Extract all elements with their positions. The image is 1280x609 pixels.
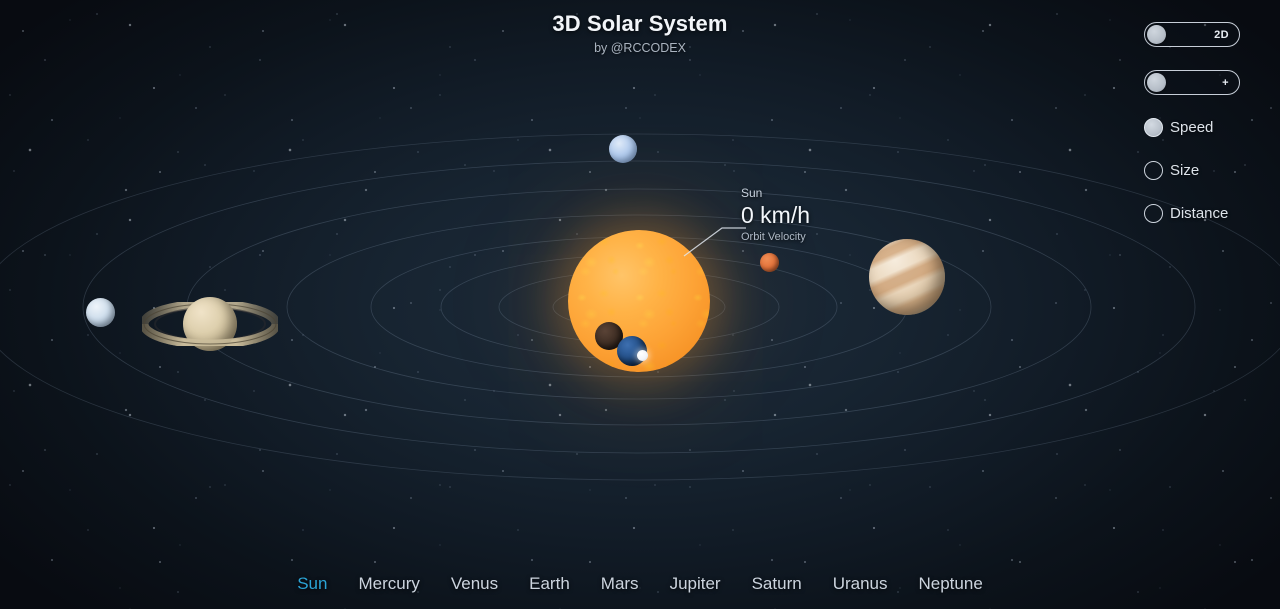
page-subtitle: by @RCCODEX xyxy=(0,40,1280,56)
planet-mars[interactable] xyxy=(760,253,779,272)
nav-item-uranus[interactable]: Uranus xyxy=(833,573,888,595)
option-distance[interactable]: Distance xyxy=(1144,204,1264,223)
nav-item-sun[interactable]: Sun xyxy=(297,573,327,595)
nav-item-saturn[interactable]: Saturn xyxy=(752,573,802,595)
nav-item-venus[interactable]: Venus xyxy=(451,573,498,595)
nav-item-mercury[interactable]: Mercury xyxy=(358,573,419,595)
planet-neptune[interactable] xyxy=(609,135,637,163)
planet-uranus[interactable] xyxy=(86,298,115,327)
zoom-toggle[interactable]: + xyxy=(1144,70,1240,95)
zoom-toggle-label: + xyxy=(1222,77,1239,89)
option-distance-label: Distance xyxy=(1170,205,1228,222)
option-speed[interactable]: Speed xyxy=(1144,118,1264,137)
nav-item-jupiter[interactable]: Jupiter xyxy=(670,573,721,595)
planet-saturn[interactable] xyxy=(183,297,237,351)
view-mode-toggle[interactable]: 2D xyxy=(1144,22,1240,47)
option-size[interactable]: Size xyxy=(1144,161,1264,180)
tooltip-unit-label: Orbit Velocity xyxy=(741,230,810,244)
moon[interactable] xyxy=(637,350,648,361)
nav-item-mars[interactable]: Mars xyxy=(601,573,639,595)
option-speed-label: Speed xyxy=(1170,119,1213,136)
planet-info-tooltip: Sun 0 km/h Orbit Velocity xyxy=(741,186,810,244)
radio-size-icon[interactable] xyxy=(1144,161,1163,180)
view-mode-toggle-label: 2D xyxy=(1214,29,1239,41)
view-mode-toggle-knob[interactable] xyxy=(1147,25,1166,44)
solar-system-canvas[interactable]: Sun 0 km/h Orbit Velocity 3D Solar Syste… xyxy=(0,0,1280,609)
radio-distance-icon[interactable] xyxy=(1144,204,1163,223)
tooltip-value: 0 km/h xyxy=(741,202,810,229)
radio-speed-icon[interactable] xyxy=(1144,118,1163,137)
nav-item-earth[interactable]: Earth xyxy=(529,573,570,595)
planet-jupiter[interactable] xyxy=(869,239,945,315)
nav-item-neptune[interactable]: Neptune xyxy=(919,573,983,595)
tooltip-planet-name: Sun xyxy=(741,186,810,201)
page-title: 3D Solar System xyxy=(0,10,1280,38)
header: 3D Solar System by @RCCODEX xyxy=(0,10,1280,56)
controls-panel: 2D + Speed Size Distance xyxy=(1144,22,1264,247)
planet-nav: Sun Mercury Venus Earth Mars Jupiter Sat… xyxy=(0,573,1280,595)
option-size-label: Size xyxy=(1170,162,1199,179)
zoom-toggle-knob[interactable] xyxy=(1147,73,1166,92)
